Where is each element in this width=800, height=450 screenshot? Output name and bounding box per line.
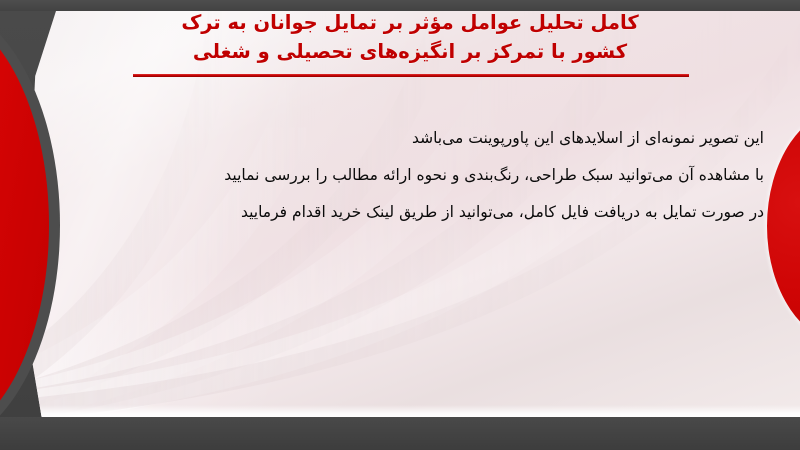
title-line-2: کشور با تمرکز بر انگیزه‌های تحصیلی و شغل… [60, 37, 760, 66]
bottom-frame-band [0, 417, 800, 450]
title-line-1: کامل تحلیل عوامل مؤثر بر تمایل جوانان به… [60, 8, 760, 37]
left-red-arc-shape [0, 2, 60, 448]
slide-body-text: این تصویر نمونه‌ای از اسلایدهای این پاور… [64, 120, 764, 231]
body-line-3: در صورت تمایل به دریافت فایل کامل، می‌تو… [64, 194, 764, 231]
slide-title: کامل تحلیل عوامل مؤثر بر تمایل جوانان به… [60, 8, 760, 66]
body-line-1: این تصویر نمونه‌ای از اسلایدهای این پاور… [64, 120, 764, 157]
panel-bottom-highlight [0, 405, 800, 417]
title-underline [133, 74, 689, 77]
body-line-2: با مشاهده آن می‌توانید سبک طراحی، رنگ‌بن… [64, 157, 764, 194]
presentation-slide: کامل تحلیل عوامل مؤثر بر تمایل جوانان به… [0, 0, 800, 450]
